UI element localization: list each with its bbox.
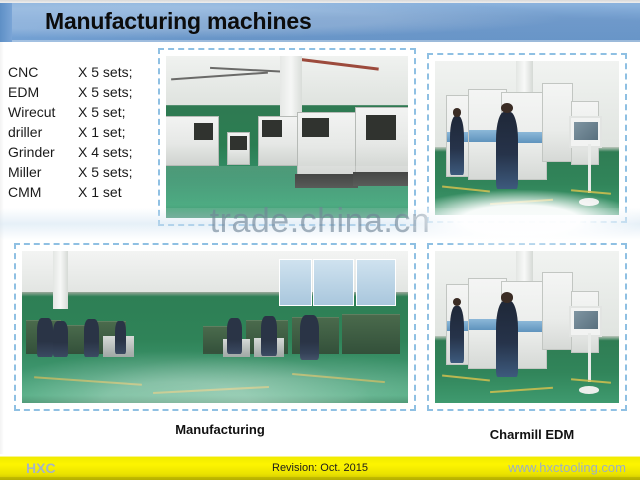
machine-quantity: X 1 set; (78, 122, 158, 142)
worker (496, 301, 518, 377)
caption-charmill-edm: Charmill EDM (457, 427, 607, 442)
list-item: Miller X 5 sets; (8, 162, 158, 182)
photo-frame-edm-top (427, 53, 627, 223)
machine-list: CNC X 5 sets; EDM X 5 sets; Wirecut X 5 … (8, 62, 158, 202)
wall-pillar (53, 251, 68, 309)
monitor-screen (574, 122, 598, 140)
photo-cnc-hall (166, 56, 408, 218)
worker (496, 112, 518, 189)
machine-quantity: X 5 set; (78, 102, 158, 122)
machine-name: EDM (8, 82, 78, 102)
list-item: Grinder X 4 sets; (8, 142, 158, 162)
worker-head (501, 292, 513, 303)
machine-panel (302, 118, 329, 136)
cnc-machine (227, 132, 251, 165)
photo-charmill-edm (435, 251, 619, 403)
machine-name: Grinder (8, 142, 78, 162)
machine-name: CMM (8, 182, 78, 202)
machine-quantity: X 4 sets; (78, 142, 158, 162)
monitor-stand (588, 144, 591, 193)
list-item: EDM X 5 sets; (8, 82, 158, 102)
machine-name: CNC (8, 62, 78, 82)
photo-frame-cnc-hall (158, 48, 416, 226)
floor-marking (442, 186, 490, 193)
floor-reflection (166, 166, 408, 218)
monitor-stand-base (579, 198, 599, 206)
worker (450, 116, 465, 175)
photo-frame-manufacturing-hall (14, 243, 416, 411)
window (356, 259, 397, 307)
control-monitor (569, 116, 602, 148)
machine-name: driller (8, 122, 78, 142)
floor-marking (571, 378, 611, 384)
machine-panel (230, 136, 247, 150)
right-edge-strip (634, 42, 640, 454)
machine-panel (262, 120, 282, 137)
list-item: driller X 1 set; (8, 122, 158, 142)
control-monitor (569, 306, 602, 337)
caption-manufacturing: Manufacturing (130, 422, 310, 437)
machine-quantity: X 5 sets; (78, 162, 158, 182)
machine-quantity: X 5 sets; (78, 82, 158, 102)
machine-panel (366, 115, 396, 140)
left-edge-strip (0, 42, 4, 454)
worker (450, 306, 465, 364)
machine-name: Wirecut (8, 102, 78, 122)
machine-quantity: X 1 set (78, 182, 158, 202)
worker-head (501, 103, 513, 114)
footer-website-url[interactable]: www.hxctooling.com (508, 460, 626, 475)
window (313, 259, 354, 307)
photo-manufacturing-hall (22, 251, 408, 403)
floor-marking (490, 199, 553, 205)
list-item: Wirecut X 5 set; (8, 102, 158, 122)
photo-frame-charmill-edm (427, 243, 627, 411)
cnc-machine (258, 116, 299, 167)
title-left-tab (0, 3, 12, 42)
monitor-screen (574, 311, 598, 329)
cnc-machine (166, 116, 219, 167)
list-item: CMM X 1 set (8, 182, 158, 202)
machine-panel (194, 123, 213, 140)
machine-quantity: X 5 sets; (78, 62, 158, 82)
page-title: Manufacturing machines (45, 8, 312, 35)
slide-canvas: Manufacturing machines CNC X 5 sets; EDM… (0, 0, 640, 480)
machine-name: Miller (8, 162, 78, 182)
floor-marking (490, 387, 553, 393)
window (279, 259, 312, 307)
monitor-stand (588, 333, 591, 382)
footer-bar: HXC Revision: Oct. 2015 www.hxctooling.c… (0, 456, 640, 480)
cnc-machine (355, 107, 408, 174)
floor-reflection (22, 342, 408, 403)
floor-marking (442, 374, 490, 381)
floor-marking (571, 190, 611, 196)
monitor-stand-base (579, 386, 599, 394)
photo-edm-top (435, 61, 619, 215)
list-item: CNC X 5 sets; (8, 62, 158, 82)
